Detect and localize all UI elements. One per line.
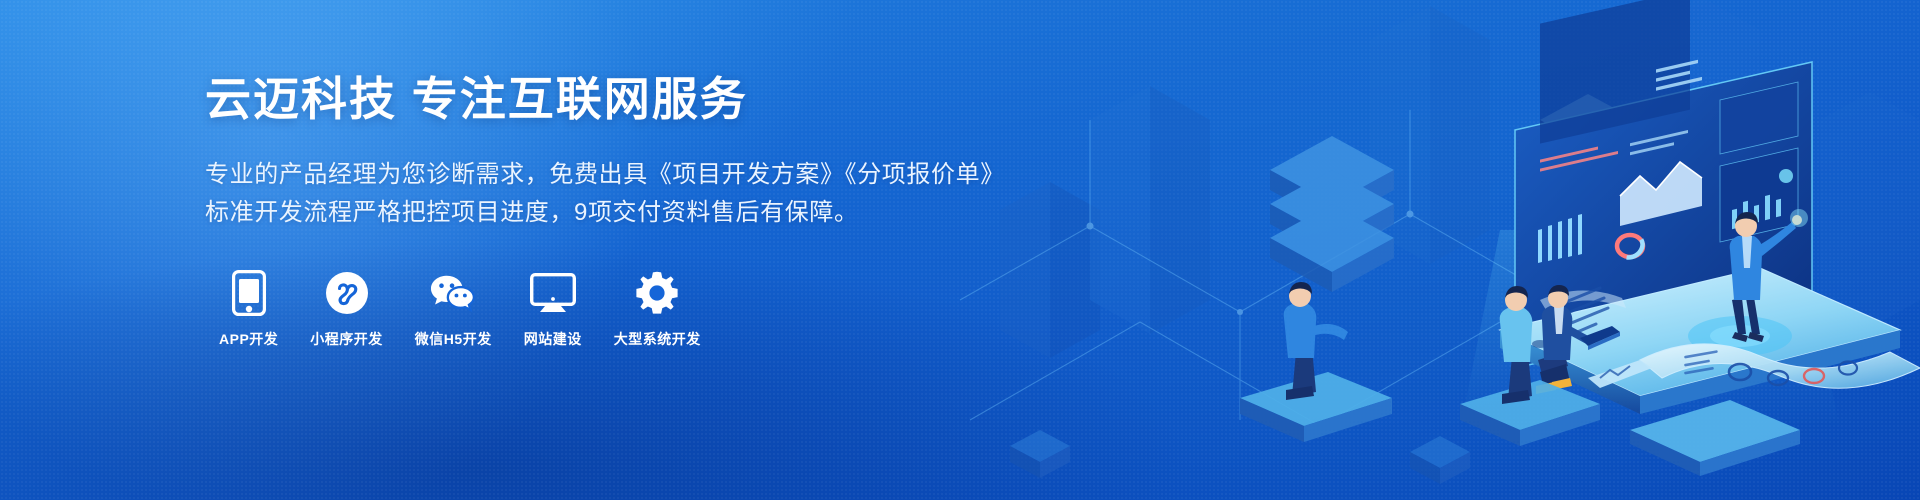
- subtitle-line-1: 专业的产品经理为您诊断需求，免费出具《项目开发方案》《分项报价单》: [205, 156, 945, 194]
- subtitle-block: 专业的产品经理为您诊断需求，免费出具《项目开发方案》《分项报价单》 标准开发流程…: [205, 156, 945, 232]
- service-item-app[interactable]: APP开发: [219, 270, 278, 349]
- lower-right-platform: [1630, 400, 1800, 476]
- gear-icon: [634, 270, 680, 316]
- monitor-icon: [530, 270, 576, 316]
- service-label: 微信H5开发: [415, 329, 492, 349]
- page-title: 云迈科技 专注互联网服务: [205, 72, 945, 126]
- service-label: APP开发: [219, 329, 278, 349]
- service-list: APP开发 小程序开发: [219, 270, 945, 349]
- service-item-large-system[interactable]: 大型系统开发: [614, 270, 701, 349]
- document-sheet: [1540, 288, 1626, 336]
- subtitle-line-2: 标准开发流程严格把控项目进度，9项交付资料售后有保障。: [205, 194, 945, 232]
- standing-figure: [1730, 209, 1808, 342]
- service-label: 大型系统开发: [614, 329, 701, 349]
- accent-cubes: [1010, 430, 1470, 484]
- floating-cube: [1540, 94, 1636, 186]
- tablet-platform: [1500, 268, 1900, 414]
- sitting-figure-with-laptop: [1536, 285, 1620, 394]
- isometric-tech-dashboard-illustration: [940, 0, 1920, 500]
- hero-content: 云迈科技 专注互联网服务 专业的产品经理为您诊断需求，免费出具《项目开发方案》《…: [205, 72, 945, 349]
- service-label: 网站建设: [524, 329, 582, 349]
- background-geometry: [1000, 0, 1920, 358]
- hero-banner: 云迈科技 专注互联网服务 专业的产品经理为您诊断需求，免费出具《项目开发方案》《…: [0, 0, 1920, 500]
- wechat-icon: [430, 270, 476, 316]
- network-lines: [960, 110, 1730, 426]
- seated-figure-right: [1460, 286, 1600, 446]
- mini-program-icon: [324, 270, 370, 316]
- seated-figure-left: [1240, 282, 1392, 442]
- data-chart-sheet: [1640, 344, 1920, 388]
- mobile-phone-icon: [226, 270, 272, 316]
- service-item-website[interactable]: 网站建设: [524, 270, 582, 349]
- dashboard-screen: [1515, 0, 1812, 368]
- server-stack: [1270, 136, 1394, 292]
- service-item-mini-program[interactable]: 小程序开发: [310, 270, 383, 349]
- mini-card: [1588, 360, 1652, 388]
- service-label: 小程序开发: [310, 329, 383, 349]
- service-item-wechat-h5[interactable]: 微信H5开发: [415, 270, 492, 349]
